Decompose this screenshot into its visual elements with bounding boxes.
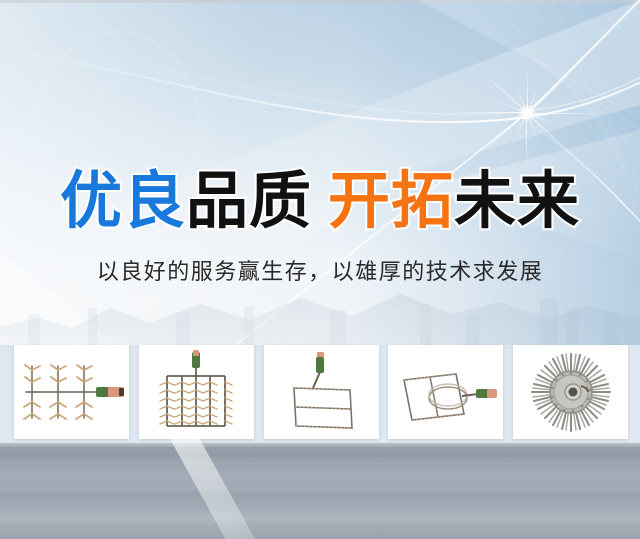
product-card-row — [14, 345, 628, 439]
product-card-radial-sunburst-disc[interactable] — [513, 345, 628, 439]
subtitle: 以良好的服务赢生存，以雄厚的技术求发展 — [0, 257, 640, 287]
product-card-multi-row-spike-rack[interactable] — [139, 345, 254, 439]
product-card-ring-frame-rack[interactable] — [388, 345, 503, 439]
product-card-comb-rake-tool[interactable] — [14, 345, 129, 439]
headline-segment-4: 未来 — [454, 167, 580, 236]
promo-banner: 优良品质开拓未来 以良好的服务赢生存，以雄厚的技术求发展 — [0, 0, 640, 539]
flat-frame-rack-icon — [280, 350, 362, 434]
ground-band-3 — [0, 513, 640, 523]
multi-row-spike-rack-icon — [151, 350, 241, 434]
ground-shadow-line — [0, 443, 640, 450]
headline: 优良品质开拓未来 — [0, 168, 640, 236]
ground-band-1 — [0, 457, 640, 465]
headline-segment-3: 开拓 — [328, 167, 454, 236]
ring-frame-rack-icon — [394, 356, 498, 428]
radial-sunburst-disc-icon — [525, 351, 617, 433]
headline-segment-1: 优良 — [60, 167, 186, 236]
headline-segment-2: 品质 — [186, 167, 312, 236]
comb-rake-tool-icon — [18, 352, 126, 432]
product-card-flat-frame-rack[interactable] — [264, 345, 379, 439]
ground-surface — [0, 443, 640, 539]
ground-band-2 — [0, 485, 640, 491]
